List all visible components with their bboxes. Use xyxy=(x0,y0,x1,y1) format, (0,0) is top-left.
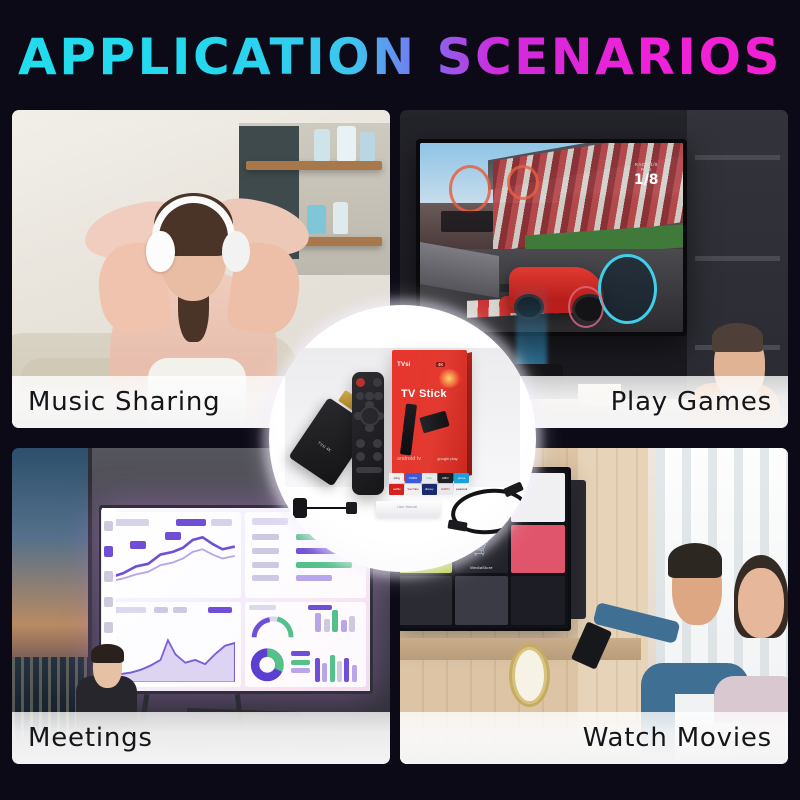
bottle xyxy=(314,129,329,161)
donut-chart xyxy=(249,646,286,684)
bottle xyxy=(360,132,375,161)
player-hair xyxy=(712,323,762,352)
man-hair xyxy=(668,543,722,578)
rail-icon-grid[interactable] xyxy=(104,571,112,582)
retail-box-title: TV Stick xyxy=(392,388,456,400)
cabinet-shelf xyxy=(695,256,780,261)
remote-button xyxy=(373,439,382,448)
area-chart xyxy=(111,626,235,683)
scenario-label-play-games: Play Games xyxy=(611,387,772,417)
otg-wire xyxy=(306,507,347,509)
user-manual-label: User Manual xyxy=(397,505,417,509)
remote-button xyxy=(356,439,365,448)
app-logo: sling xyxy=(389,473,404,483)
app-logo: HBO xyxy=(438,473,453,483)
app-logo: prime xyxy=(454,473,469,483)
bottle xyxy=(337,126,356,161)
retail-box-brand: TVsi xyxy=(397,362,410,368)
remote-button xyxy=(356,452,365,461)
app-logo: YouTube xyxy=(405,484,420,494)
rail-icon-home[interactable] xyxy=(104,521,112,532)
otg-adapter-cable xyxy=(293,503,357,514)
app-logo: disney xyxy=(422,484,437,494)
dashboard-card-line-chart xyxy=(106,512,241,598)
presenter-hair xyxy=(91,644,123,663)
bottle xyxy=(333,202,348,234)
app-logo: netflix xyxy=(389,484,404,494)
remote-control xyxy=(352,372,384,495)
scenario-label-meetings: Meetings xyxy=(28,723,153,753)
otg-connector xyxy=(346,502,358,515)
hdmi-cable-plug xyxy=(447,520,467,532)
hud-lap-value: 1/8 xyxy=(623,172,670,188)
wifi-icon xyxy=(437,369,461,388)
tv-tile-apps[interactable] xyxy=(400,576,452,625)
hud-position-bar xyxy=(441,211,494,232)
scenario-label-music-sharing: Music Sharing xyxy=(28,387,220,417)
otg-plug xyxy=(293,498,307,517)
headphone-cup-left xyxy=(146,231,174,272)
app-logo: hulu xyxy=(422,473,437,483)
remote-dpad xyxy=(360,406,379,425)
cabinet-shelf xyxy=(695,155,780,160)
remote-bar-button xyxy=(356,467,382,474)
product-kit-photo: TVsi 4K TVsi 4K TV Stick xyxy=(269,305,536,572)
scenario-label-banner: Watch Movies xyxy=(400,712,788,764)
hud-lap-counter: RACE 1/8 POS 1/8 xyxy=(623,162,670,200)
bottle xyxy=(307,205,326,234)
remote-button xyxy=(374,392,383,401)
headphone-cup-right xyxy=(222,231,250,272)
hud-speedometer-icon xyxy=(598,254,657,324)
tv-tile-search[interactable] xyxy=(511,576,564,625)
remote-button xyxy=(365,392,374,401)
hud-ring-icon xyxy=(449,165,492,213)
clock-face xyxy=(515,650,544,701)
app-logo: peacock xyxy=(454,484,469,494)
rail-icon-settings[interactable] xyxy=(104,597,112,608)
hud-gauge-icon xyxy=(568,286,604,328)
retail-box-store-label: google play xyxy=(437,456,457,461)
app-logo: VUDU xyxy=(405,473,420,483)
dashboard-card-area-chart xyxy=(106,602,241,688)
streaming-app-logo-strip: sling VUDU hulu HBO prime netflix YouTub… xyxy=(389,473,469,494)
rail-icon-user[interactable] xyxy=(104,622,112,633)
dashboard-card-gauge-donut-bars xyxy=(245,602,367,688)
wood-shelf xyxy=(246,161,382,170)
tv-screen-racing-game: RACE 1/8 POS 1/8 xyxy=(420,143,684,332)
scenario-label-banner: Meetings xyxy=(12,712,390,764)
woman-head xyxy=(738,568,785,638)
application-scenarios-banner: APPLICATION SCENARIOS xyxy=(0,0,800,800)
app-logo: ESPN xyxy=(438,484,453,494)
product-kit-circle: TVsi 4K TVsi 4K TV Stick xyxy=(269,305,536,572)
page-title: APPLICATION SCENARIOS xyxy=(0,26,800,88)
alarm-clock xyxy=(509,644,550,707)
tv-tile-settings[interactable] xyxy=(455,576,508,625)
gauge-chart xyxy=(247,612,298,641)
rail-icon-charts[interactable] xyxy=(104,546,112,557)
scenario-label-watch-movies: Watch Movies xyxy=(583,723,772,753)
retail-box-4k-badge: 4K xyxy=(436,362,446,367)
hud-ring-icon xyxy=(507,165,539,199)
retail-box-os-label: android tv xyxy=(397,456,421,462)
